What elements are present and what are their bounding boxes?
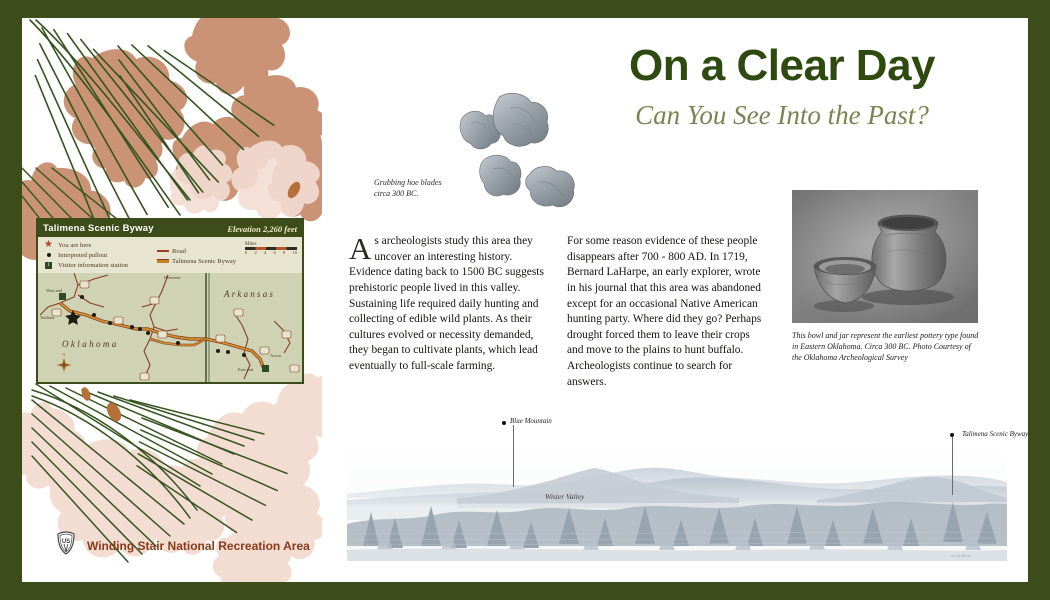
scale-tick: 6 bbox=[274, 250, 276, 255]
map-elevation: Elevation 2,260 feet bbox=[227, 224, 297, 234]
visitor-info-icon: i bbox=[42, 262, 55, 269]
scale-ticks: 0 2 4 6 8 10 bbox=[245, 250, 297, 255]
footer: US Winding Stair National Recreation Are… bbox=[56, 531, 310, 560]
blue-mountain-leader-line bbox=[513, 425, 514, 487]
wister-valley-label: Wister Valley bbox=[545, 492, 584, 501]
map-body[interactable]: Oklahoma Arkansas West end Talihina Heav… bbox=[38, 273, 302, 382]
byway-line-icon bbox=[156, 259, 169, 263]
hoe-caption-line2: circa 300 BC. bbox=[374, 189, 418, 198]
legend-label: You are here bbox=[58, 242, 91, 249]
talimena-byway-label: Talimena Scenic Byway bbox=[962, 430, 1028, 438]
svg-text:Mena: Mena bbox=[244, 381, 254, 382]
page-title: On a Clear Day bbox=[562, 44, 1002, 88]
body-column-2: For some reason evidence of these people… bbox=[567, 234, 765, 390]
map-title: Talimena Scenic Byway bbox=[43, 223, 154, 234]
dot-icon bbox=[42, 253, 55, 257]
scale-tick: 0 bbox=[245, 250, 247, 255]
svg-text:West end: West end bbox=[46, 288, 63, 293]
road-line-icon bbox=[156, 250, 169, 252]
svg-text:US: US bbox=[62, 539, 70, 545]
scale-tick: 8 bbox=[283, 250, 285, 255]
panorama-sketch: art by Kevin bbox=[347, 446, 1007, 561]
legend-label: Visitor information station bbox=[58, 262, 128, 269]
map-panel[interactable]: Talimena Scenic Byway Elevation 2,260 fe… bbox=[36, 218, 304, 384]
pottery-photo-caption: This bowl and jar represent the earliest… bbox=[792, 330, 982, 363]
drop-cap: A bbox=[349, 234, 374, 261]
forest-service-shield-icon: US bbox=[56, 531, 76, 560]
svg-text:Acorn: Acorn bbox=[270, 353, 282, 358]
map-scale-bar: Miles 0 2 4 6 8 10 bbox=[245, 242, 297, 255]
body-text-2: For some reason evidence of these people… bbox=[567, 235, 761, 388]
map-legend: ★ You are here Interpreted pullout i Vis… bbox=[38, 237, 302, 273]
scale-tick: 4 bbox=[264, 250, 266, 255]
svg-text:Arkansas: Arkansas bbox=[223, 289, 275, 299]
svg-text:Talihina: Talihina bbox=[40, 315, 54, 320]
svg-text:N: N bbox=[62, 352, 65, 357]
legend-item-you-are-here: ★ You are here bbox=[42, 240, 128, 250]
star-icon: ★ bbox=[42, 241, 55, 249]
blue-mountain-label: Blue Mountain bbox=[510, 417, 552, 425]
legend-item-byway: Talimena Scenic Byway bbox=[156, 256, 236, 266]
page-subtitle: Can You See Into the Past? bbox=[562, 102, 1002, 129]
legend-label: Talimena Scenic Byway bbox=[172, 258, 236, 265]
interpretive-sign: Talimena Scenic Byway Elevation 2,260 fe… bbox=[0, 0, 1050, 600]
hoe-blades-caption: Grubbing hoe blades circa 300 BC. bbox=[374, 178, 484, 200]
scale-tick: 2 bbox=[255, 250, 257, 255]
blue-mountain-dot-icon bbox=[502, 421, 506, 425]
legend-item-interpreted-pullout: Interpreted pullout bbox=[42, 250, 128, 260]
svg-text:East end: East end bbox=[238, 367, 254, 372]
legend-label: Road bbox=[172, 248, 186, 255]
map-header: Talimena Scenic Byway Elevation 2,260 fe… bbox=[38, 220, 302, 237]
hoe-caption-line1: Grubbing hoe blades bbox=[374, 178, 442, 187]
svg-text:Heavener: Heavener bbox=[164, 275, 181, 280]
svg-text:Oklahoma: Oklahoma bbox=[62, 339, 119, 349]
sign-panel: Talimena Scenic Byway Elevation 2,260 fe… bbox=[22, 18, 1028, 582]
body-text-1: s archeologists study this area they unc… bbox=[349, 235, 544, 372]
legend-item-visitor-information-station: i Visitor information station bbox=[42, 260, 128, 270]
scale-tick: 10 bbox=[293, 250, 298, 255]
pottery-photo bbox=[792, 190, 978, 323]
svg-text:art by Kevin: art by Kevin bbox=[951, 553, 971, 558]
legend-label: Interpreted pullout bbox=[58, 252, 107, 259]
legend-item-road: Road bbox=[156, 246, 236, 256]
talimena-byway-leader-line bbox=[952, 437, 953, 495]
body-column-1: As archeologists study this area they un… bbox=[349, 234, 547, 375]
agency-name: Winding Stair National Recreation Area bbox=[87, 539, 310, 553]
